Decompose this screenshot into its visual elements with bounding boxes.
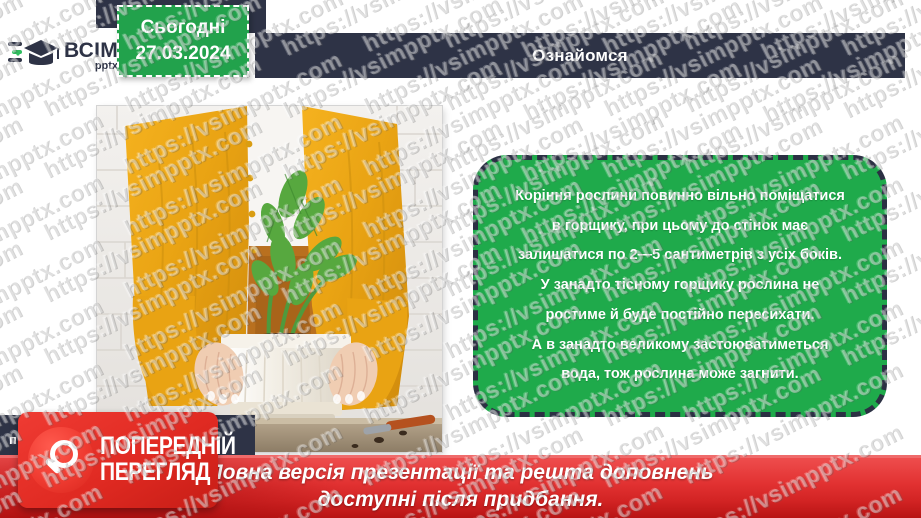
slide-header-bar: Ознайомся xyxy=(255,33,905,78)
date-badge: Сьогодні 27.03.2024 xyxy=(117,5,249,77)
callout-line-1: Коріння рослини повинно вільно поміщатис… xyxy=(515,182,845,212)
preview-badge-line-1: ПОПЕРЕДНІЙ xyxy=(100,434,236,459)
info-callout: Коріння рослини повинно вільно поміщатис… xyxy=(473,155,887,417)
banner-line-2: доступні після придбання. xyxy=(318,487,604,513)
callout-line-4: У занадто тісному горщику рослина не xyxy=(541,271,820,301)
presentation-slide: ВСІМ pptx Сьогодні 27.03.2024 Ознайомся xyxy=(0,0,921,518)
date-badge-value: 27.03.2024 xyxy=(135,41,230,67)
preview-badge: ПОПЕРЕДНІЙ ПЕРЕГЛЯД xyxy=(18,412,218,508)
logo-sub-text: pptx xyxy=(64,61,118,71)
callout-line-2: в горщику, при цьому до стінок має xyxy=(552,212,808,242)
magnifier-icon xyxy=(28,427,94,493)
graduation-cap-icon xyxy=(8,35,60,78)
banner-line-1: Повна версія презентації та решта доповн… xyxy=(208,460,714,486)
callout-line-5: ростиме й буде постійно пересихати. xyxy=(545,301,814,331)
callout-line-3: залишатися по 2—5 сантиметрів з усіх бок… xyxy=(518,241,842,271)
brand-logo: ВСІМ pptx xyxy=(0,28,118,84)
slide-photo xyxy=(97,106,442,452)
page-title: Ознайомся xyxy=(532,46,628,66)
callout-line-7: вода, тож рослина може загнити. xyxy=(561,360,798,390)
footer-text: п xyxy=(9,432,17,447)
logo-main-text: ВСІМ xyxy=(64,41,118,60)
preview-badge-line-2: ПЕРЕГЛЯД xyxy=(100,460,236,485)
callout-line-6: А в занадто великому застоюватиметься xyxy=(532,331,829,361)
watermark-text: https://vsimpptx.com https://vsimpptx.co… xyxy=(440,0,921,178)
date-badge-label: Сьогодні xyxy=(141,15,226,41)
